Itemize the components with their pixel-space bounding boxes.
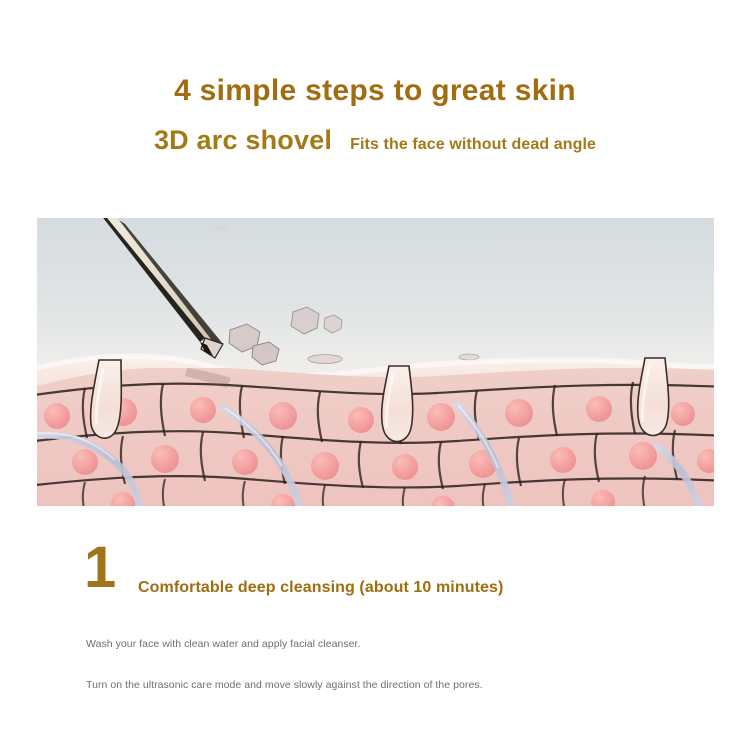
- step-description-line: Wash your face with clean water and appl…: [86, 638, 686, 652]
- step-section: 1 Comfortable deep cleansing (about 10 m…: [0, 543, 750, 607]
- step-description: Wash your face with clean water and appl…: [86, 638, 686, 692]
- skin-diagram-svg: [37, 218, 714, 506]
- feature-tagline: Fits the face without dead angle: [350, 136, 596, 154]
- dermis-cell-layer: [37, 368, 714, 506]
- skin-cross-section-illustration: [37, 218, 714, 506]
- step-title: Comfortable deep cleansing (about 10 min…: [138, 579, 503, 597]
- subheader-row: 3D arc shovel Fits the face without dead…: [0, 125, 750, 156]
- product-detail-page: 4 simple steps to great skin 3D arc shov…: [0, 0, 750, 738]
- step-header-row: 1 Comfortable deep cleansing (about 10 m…: [0, 543, 750, 607]
- page-title: 4 simple steps to great skin: [0, 74, 750, 109]
- header-section: 4 simple steps to great skin 3D arc shov…: [0, 74, 750, 156]
- step-description-line: Turn on the ultrasonic care mode and mov…: [86, 679, 686, 693]
- feature-name: 3D arc shovel: [154, 125, 332, 156]
- step-number: 1: [84, 539, 115, 597]
